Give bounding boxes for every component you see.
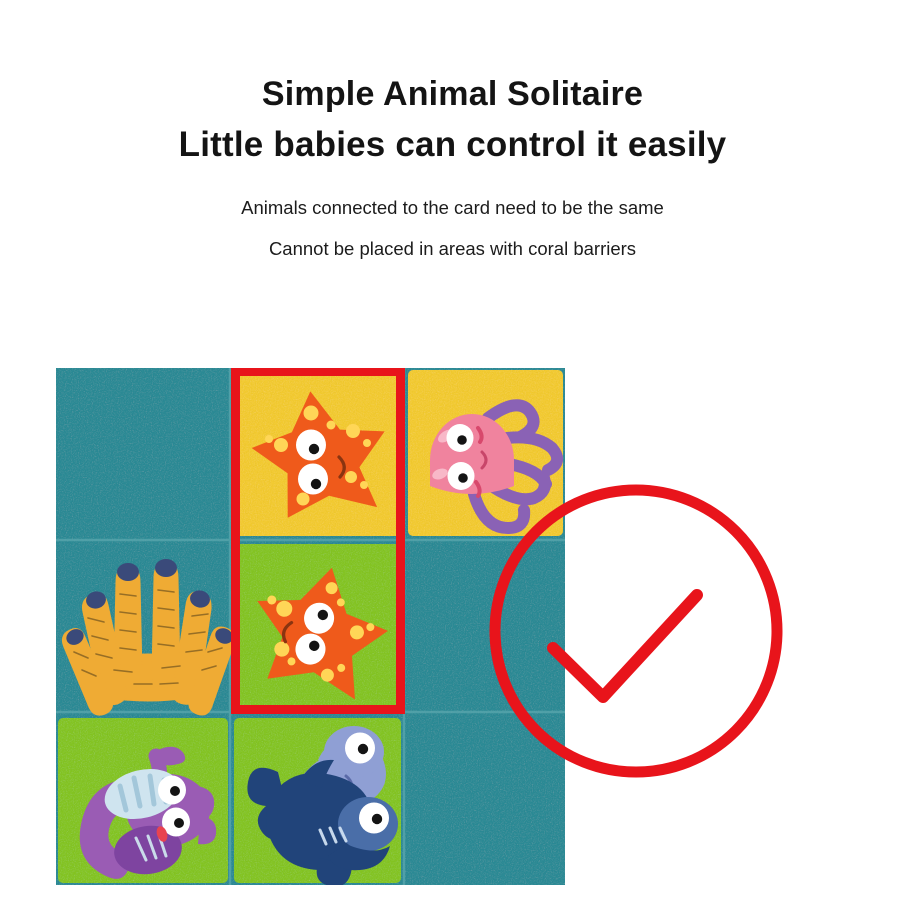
eye-pupil [170, 786, 180, 796]
game-board[interactable] [56, 368, 565, 885]
page-title-line-2: Little babies can control it easily [0, 114, 905, 165]
eye-pupil [358, 744, 368, 754]
board-cell-r2c2-starfish-card[interactable] [234, 544, 401, 710]
eye-pupil [458, 473, 468, 483]
check-mark-icon [553, 595, 697, 697]
eye-pupil [457, 435, 467, 445]
eye-pupil [372, 814, 382, 824]
eye-white [298, 464, 328, 495]
board-cell-r3c3-empty[interactable] [406, 718, 563, 883]
header-block: Simple Animal Solitaire Little babies ca… [0, 0, 905, 260]
board-cell-r1c1-empty[interactable] [58, 370, 228, 538]
eye-pupil [174, 818, 184, 828]
eye-pupil [311, 479, 321, 489]
board-cell-r2c3-empty[interactable] [406, 544, 563, 710]
board-cell-r3c1-seahorse-card[interactable] [58, 718, 228, 883]
eye-pupil [309, 444, 319, 454]
board-cell-r1c2-starfish-card[interactable] [234, 370, 401, 536]
board-cell-r1c3-jellyfish-card[interactable] [408, 370, 563, 536]
board-cell-r3c2-shark-card[interactable] [234, 718, 401, 885]
rule-text-matching-animals: Animals connected to the card need to be… [0, 165, 905, 219]
page-title-line-1: Simple Animal Solitaire [0, 0, 905, 114]
rule-text-coral-barrier: Cannot be placed in areas with coral bar… [0, 220, 905, 260]
